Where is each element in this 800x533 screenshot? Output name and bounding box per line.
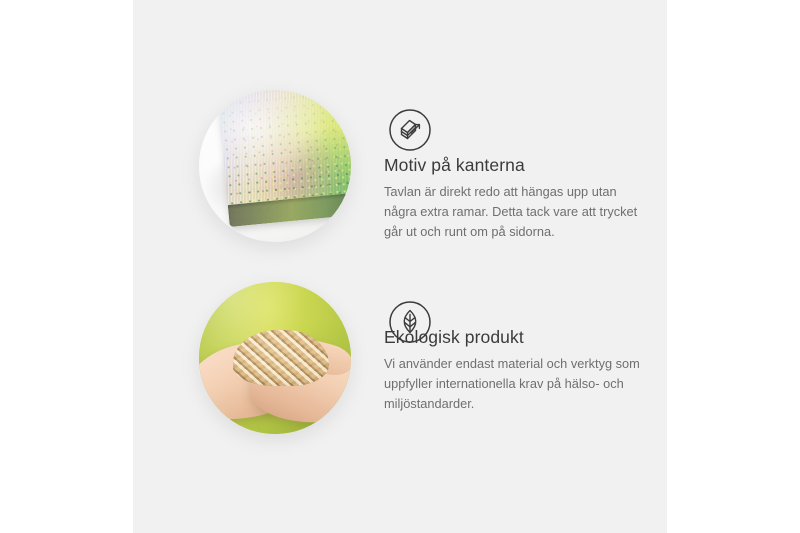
content-panel bbox=[133, 0, 667, 533]
feature-title: Ekologisk produkt bbox=[384, 327, 674, 348]
feature-text-block: Ekologisk produkt Vi använder endast mat… bbox=[384, 327, 674, 413]
feature-description: Tavlan är direkt redo att hängas upp uta… bbox=[384, 182, 644, 241]
feature-text-block: Motiv på kanterna Tavlan är direkt redo … bbox=[384, 155, 644, 241]
hands-holding-wood-chips-photo bbox=[199, 282, 351, 434]
canvas-edge-print-icon bbox=[388, 108, 432, 152]
canvas-print-slab bbox=[217, 90, 351, 227]
product-feature-banner: Motiv på kanterna Tavlan är direkt redo … bbox=[0, 0, 800, 533]
canvas-print-corner-photo bbox=[199, 90, 351, 242]
wood-chips bbox=[233, 330, 329, 386]
feature-title: Motiv på kanterna bbox=[384, 155, 644, 176]
feature-description: Vi använder endast material och verktyg … bbox=[384, 354, 674, 413]
